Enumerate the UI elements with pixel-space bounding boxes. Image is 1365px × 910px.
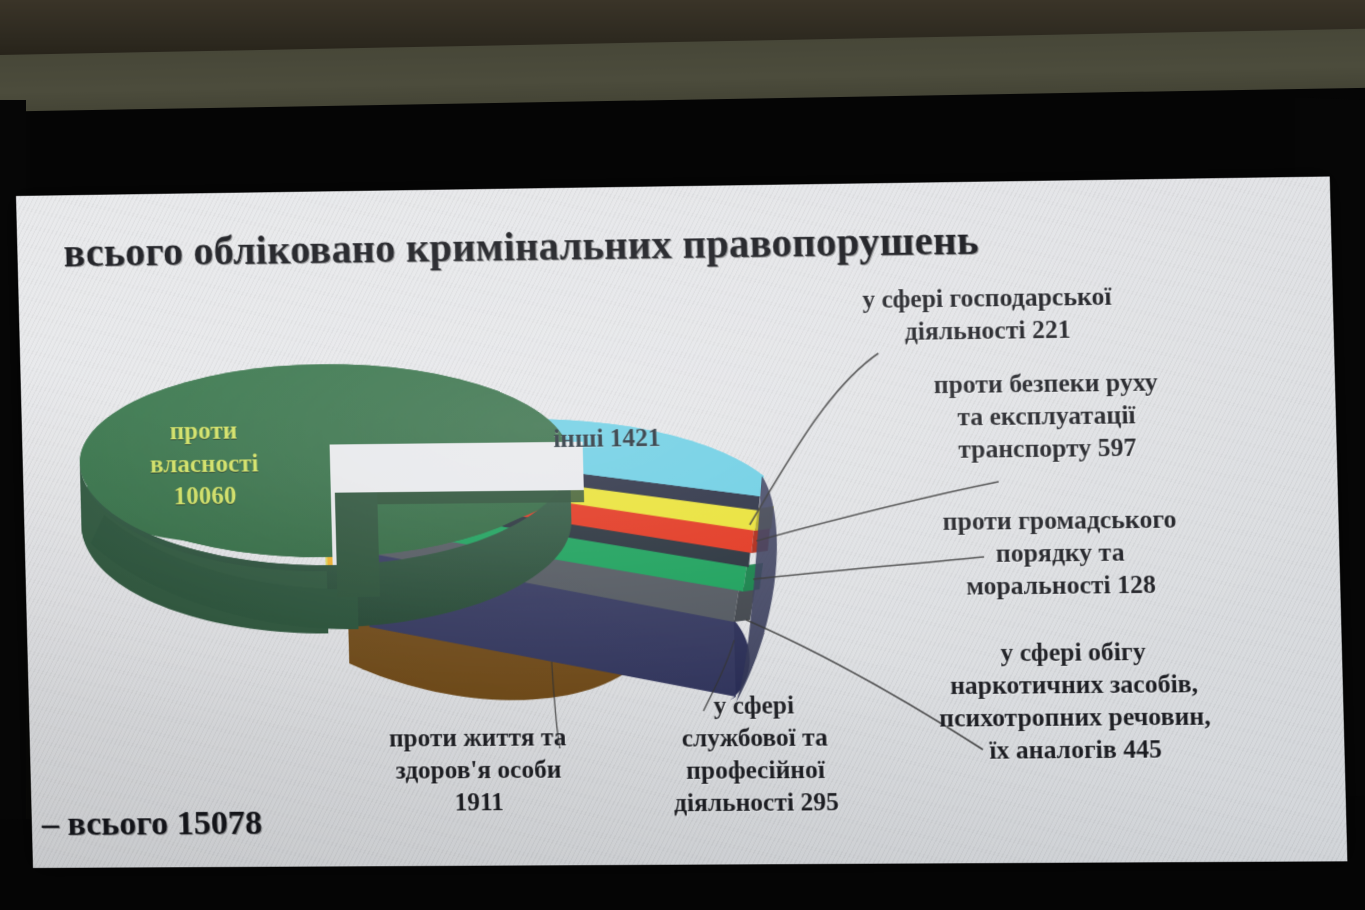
total-label: – всього 15078 [41, 805, 262, 844]
projected-slide: всього обліковано кримінальних правопору… [16, 176, 1347, 867]
callout-drugs: у сфері обігу наркотичних засобів, психо… [883, 636, 1268, 769]
callout-economic: у сфері господарської діяльності 221 [787, 280, 1189, 350]
callout-traffic: проти безпеки руху та експлуатації транс… [860, 366, 1233, 468]
callout-life-health: проти життя та здоров'я особи 1911 [331, 722, 627, 821]
callout-service: у сфері службової та професійної діяльно… [618, 689, 892, 820]
photo-of-projection-screen: всього обліковано кримінальних правопору… [0, 0, 1365, 910]
callout-public-order: проти громадського порядку та моральност… [874, 504, 1247, 605]
